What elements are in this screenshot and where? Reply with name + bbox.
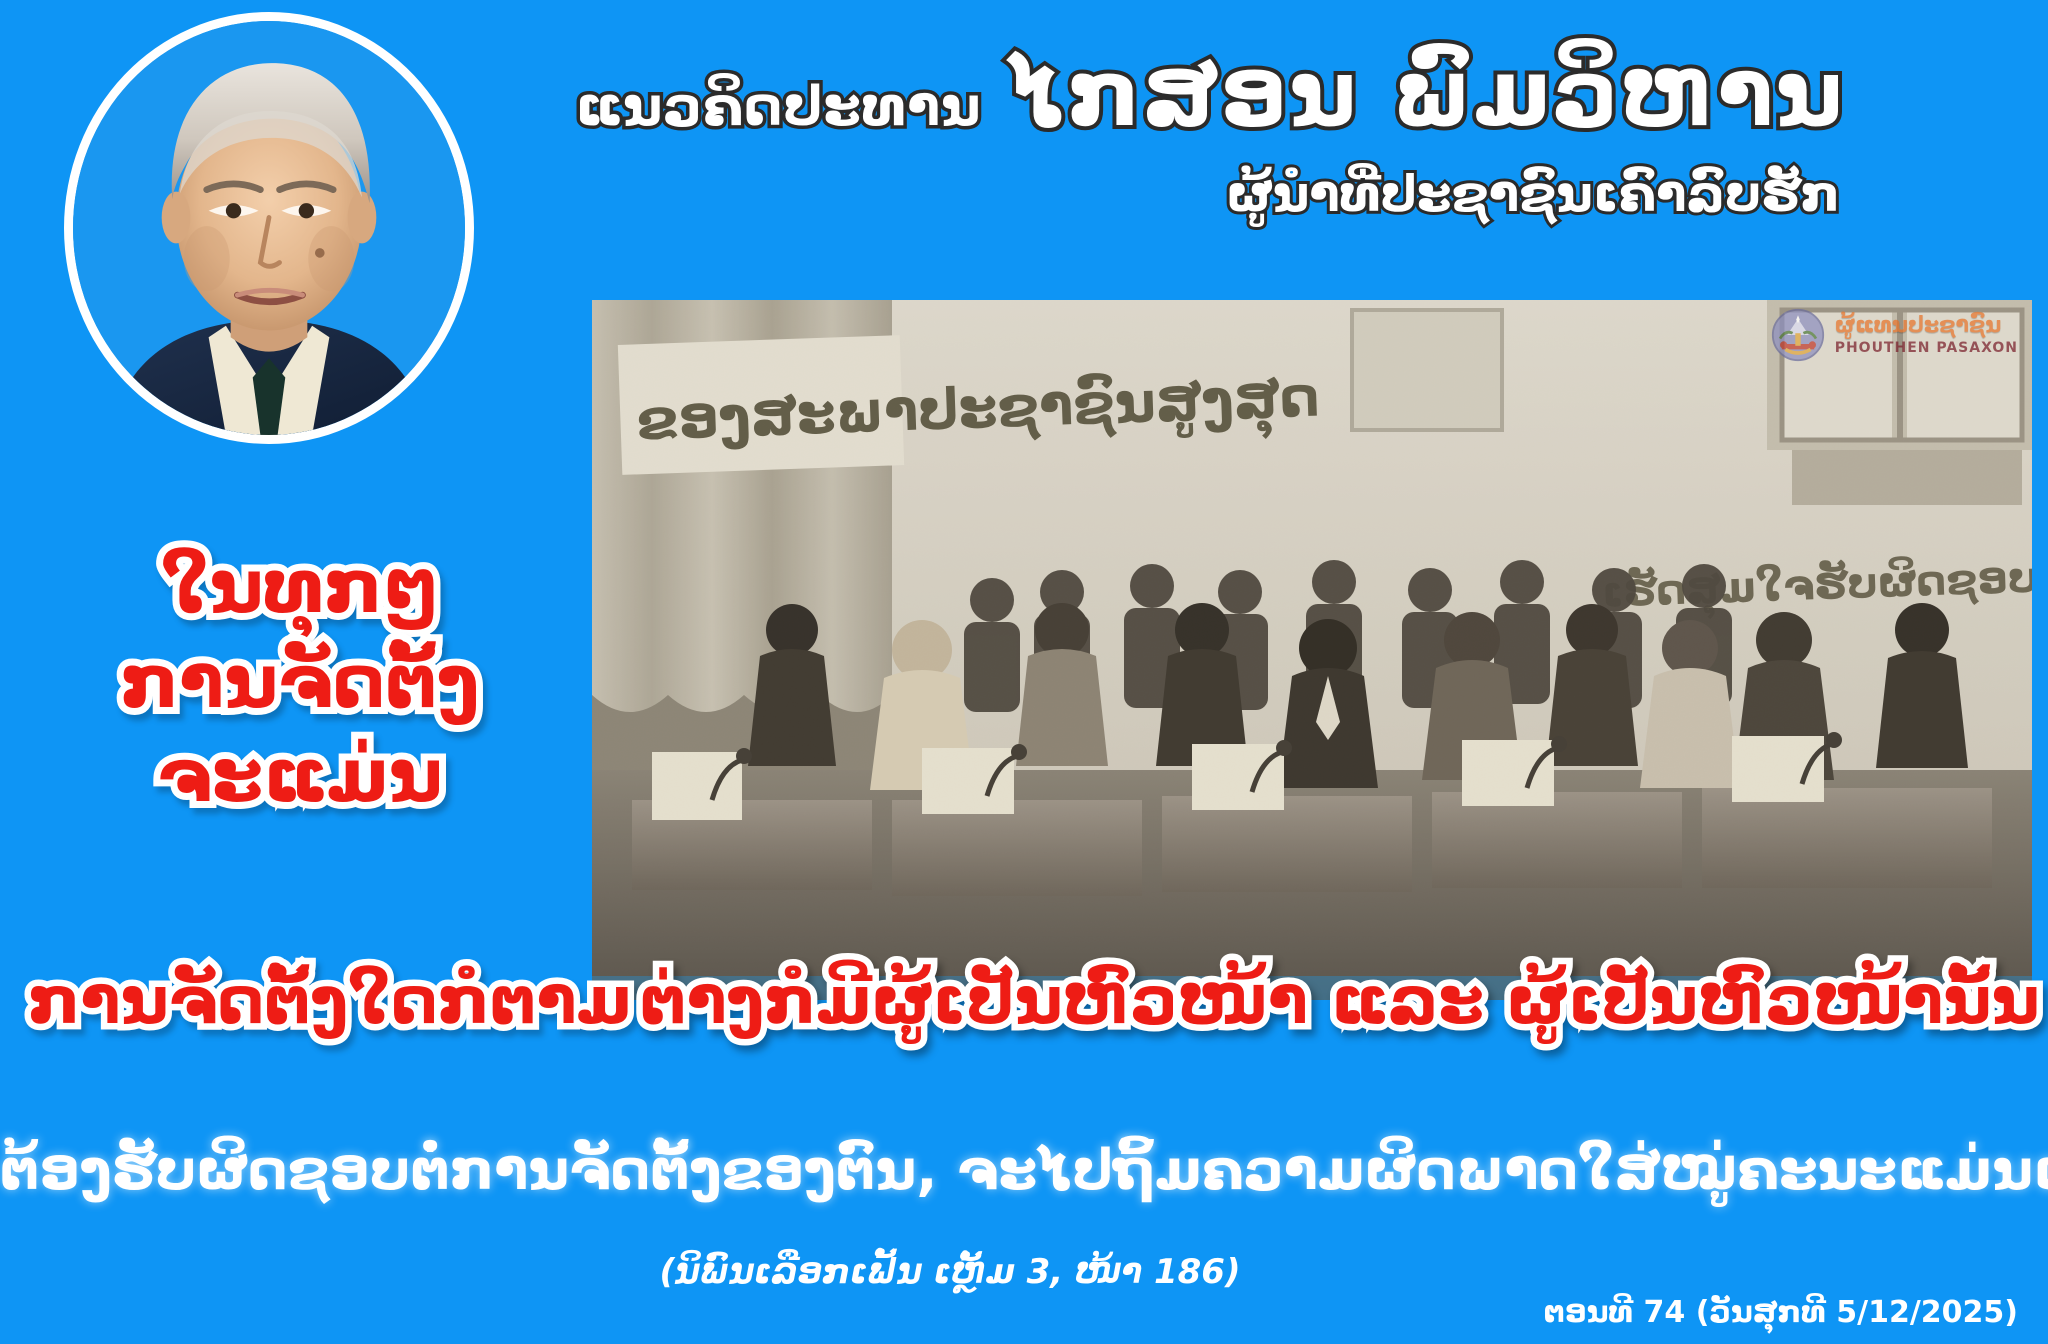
headline-row: ແນວຄິດປະທານ ໄກສອນ ພົມວິຫານ — [500, 40, 1920, 147]
slogan-left-line-3: ຈະແມ່ນ — [40, 729, 560, 824]
slogan-left-line-1: ໃນທຸກໆ — [40, 540, 560, 635]
slogan-bottom-left: ການຈັດຕັ້ງໃດກໍຕາມ — [20, 962, 640, 1039]
headline-prefix: ແນວຄິດປະທານ — [575, 75, 981, 138]
slogan-over-photo: ຕ່າງກໍມີຜູ້ເປັນຫົວໜ້າ ແລະ ຜູ້ເປັນຫົວໜ້ານ… — [640, 962, 2030, 1039]
watermark-text: ຜູ້ແທນປະຊາຊົນ PHOUTHEN PASAXON — [1835, 315, 2018, 355]
quote-paragraph: ຕ້ອງຮັບຜິດຊອບຕໍ່ການຈັດຕັ້ງຂອງຕົນ, ຈະໄປຖິ… — [0, 1138, 2048, 1203]
headline-block: ແນວຄິດປະທານ ໄກສອນ ພົມວິຫານ ຜູ້ນຳທີ່ປະຊາຊ… — [500, 40, 1920, 223]
citation-text: (ນິພົນເລືອກເຟັ້ນ ເຫຼັ້ມ 3, ໜ້າ 186) — [0, 1252, 1900, 1292]
watermark: ຜູ້ແທນປະຊາຊົນ PHOUTHEN PASAXON — [1771, 308, 2018, 362]
slogan-left-line-2: ການຈັດຕັ້ງ — [40, 635, 560, 730]
headline-subtitle: ຜູ້ນຳທີ່ປະຊາຊົນເຄົາລົບຮັກ — [500, 165, 1920, 223]
watermark-english: PHOUTHEN PASAXON — [1835, 341, 2018, 355]
portrait-image — [73, 21, 465, 435]
watermark-lao: ຜູ້ແທນປະຊາຊົນ — [1835, 315, 2018, 337]
slogan-left-column: ໃນທຸກໆ ການຈັດຕັ້ງ ຈະແມ່ນ — [40, 540, 560, 824]
portrait-medallion — [64, 12, 474, 444]
historical-photo: ຂອງສະພາປະຊາຊົນສູງສຸດ ເຮັດສຸມໃຈຮັບຜິດຊອບຕ… — [592, 300, 2032, 1000]
photo-illustration: ຂອງສະພາປະຊາຊົນສູງສຸດ ເຮັດສຸມໃຈຮັບຜິດຊອບຕ… — [592, 300, 2032, 1000]
lao-national-emblem-icon — [1771, 308, 1825, 362]
headline-name: ໄກສອນ ພົມວິຫານ — [1007, 40, 1844, 147]
episode-label: ຕອນທີ 74 (ວັນສຸກທີ 5/12/2025) — [1544, 1295, 2018, 1330]
